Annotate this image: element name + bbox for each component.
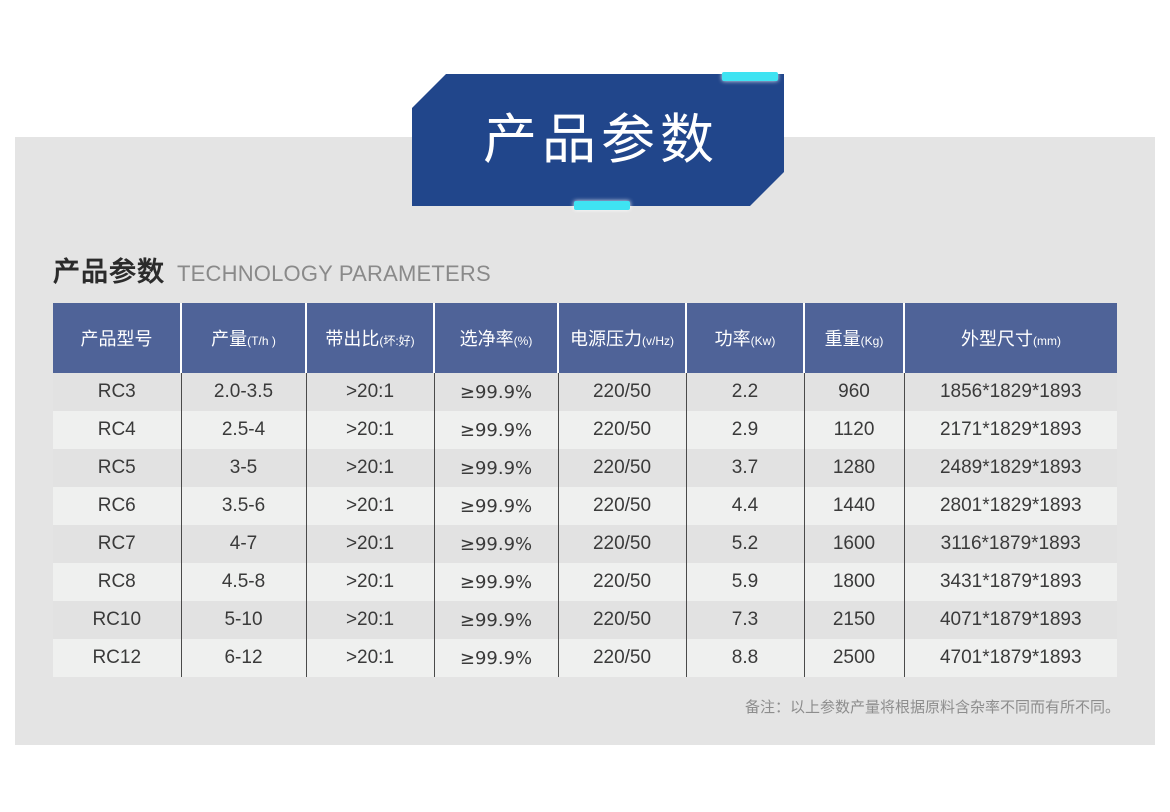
column-header-label: 重量 [825, 329, 861, 350]
table-row: RC84.5-8>20:1≥99.9%220/505.918003431*187… [53, 563, 1117, 601]
cell-capacity: 2.5-4 [181, 411, 306, 449]
cell-power: 7.3 [686, 601, 804, 639]
column-header-unit: (坏:好) [379, 334, 414, 348]
section-title-cn: 产品参数 [53, 250, 165, 289]
column-header-label: 选净率 [460, 329, 514, 350]
cell-capacity: 4.5-8 [181, 563, 306, 601]
table-body: RC32.0-3.5>20:1≥99.9%220/502.29601856*18… [53, 373, 1117, 677]
cell-dimensions: 2171*1829*1893 [904, 411, 1117, 449]
cell-model: RC4 [53, 411, 181, 449]
cell-capacity: 5-10 [181, 601, 306, 639]
cell-capacity: 4-7 [181, 525, 306, 563]
cell-carryover-ratio: >20:1 [306, 373, 434, 411]
cell-power: 5.9 [686, 563, 804, 601]
column-header-label: 外型尺寸 [961, 329, 1033, 350]
table-row: RC42.5-4>20:1≥99.9%220/502.911202171*182… [53, 411, 1117, 449]
cell-dimensions: 3116*1879*1893 [904, 525, 1117, 563]
cell-purity-rate: ≥99.9% [434, 449, 558, 487]
cell-weight: 1120 [804, 411, 904, 449]
cell-power: 8.8 [686, 639, 804, 677]
column-header-dimensions: 外型尺寸(mm) [904, 303, 1117, 373]
cell-dimensions: 3431*1879*1893 [904, 563, 1117, 601]
cell-power-supply: 220/50 [558, 411, 686, 449]
cell-capacity: 3-5 [181, 449, 306, 487]
cell-model: RC3 [53, 373, 181, 411]
cell-model: RC6 [53, 487, 181, 525]
cell-carryover-ratio: >20:1 [306, 601, 434, 639]
section-title-en: TECHNOLOGY PARAMETERS [177, 261, 491, 287]
cell-model: RC10 [53, 601, 181, 639]
cell-power: 2.9 [686, 411, 804, 449]
cell-purity-rate: ≥99.9% [434, 639, 558, 677]
column-header-label: 电源压力 [570, 329, 642, 350]
cell-capacity: 3.5-6 [181, 487, 306, 525]
table-header-row: 产品型号 产量(T/h ) 带出比(坏:好) 选净率(%) 电源压力(v/Hz)… [53, 303, 1117, 373]
column-header-label: 带出比 [325, 329, 379, 350]
specifications-table: 产品型号 产量(T/h ) 带出比(坏:好) 选净率(%) 电源压力(v/Hz)… [53, 303, 1117, 677]
cell-power-supply: 220/50 [558, 373, 686, 411]
table-row: RC105-10>20:1≥99.9%220/507.321504071*187… [53, 601, 1117, 639]
cell-power: 3.7 [686, 449, 804, 487]
column-header-unit: (Kw) [751, 334, 776, 348]
cell-power-supply: 220/50 [558, 563, 686, 601]
table-row: RC53-5>20:1≥99.9%220/503.712802489*1829*… [53, 449, 1117, 487]
banner-accent-top-bar [722, 72, 778, 81]
cell-carryover-ratio: >20:1 [306, 525, 434, 563]
cell-model: RC7 [53, 525, 181, 563]
cell-power: 5.2 [686, 525, 804, 563]
column-header-unit: (%) [514, 334, 533, 348]
column-header-power-supply: 电源压力(v/Hz) [558, 303, 686, 373]
section-heading: 产品参数 TECHNOLOGY PARAMETERS [53, 250, 491, 289]
cell-purity-rate: ≥99.9% [434, 601, 558, 639]
column-header-carryover-ratio: 带出比(坏:好) [306, 303, 434, 373]
cell-power-supply: 220/50 [558, 639, 686, 677]
table-footnote: 备注：以上参数产量将根据原料含杂率不同而有所不同。 [745, 696, 1120, 717]
cell-dimensions: 4701*1879*1893 [904, 639, 1117, 677]
column-header-weight: 重量(Kg) [804, 303, 904, 373]
cell-capacity: 2.0-3.5 [181, 373, 306, 411]
cell-weight: 1600 [804, 525, 904, 563]
cell-dimensions: 2801*1829*1893 [904, 487, 1117, 525]
table-row: RC63.5-6>20:1≥99.9%220/504.414402801*182… [53, 487, 1117, 525]
cell-carryover-ratio: >20:1 [306, 449, 434, 487]
table-row: RC32.0-3.5>20:1≥99.9%220/502.29601856*18… [53, 373, 1117, 411]
cell-weight: 960 [804, 373, 904, 411]
banner-title: 产品参数 [477, 113, 719, 167]
column-header-label: 产量 [211, 329, 247, 350]
cell-dimensions: 1856*1829*1893 [904, 373, 1117, 411]
banner-accent-bottom-bar [574, 201, 630, 210]
cell-dimensions: 2489*1829*1893 [904, 449, 1117, 487]
cell-weight: 1800 [804, 563, 904, 601]
column-header-purity-rate: 选净率(%) [434, 303, 558, 373]
cell-weight: 2500 [804, 639, 904, 677]
column-header-unit: (Kg) [861, 334, 884, 348]
cell-carryover-ratio: >20:1 [306, 487, 434, 525]
cell-purity-rate: ≥99.9% [434, 525, 558, 563]
cell-model: RC8 [53, 563, 181, 601]
cell-carryover-ratio: >20:1 [306, 563, 434, 601]
cell-power-supply: 220/50 [558, 601, 686, 639]
cell-dimensions: 4071*1879*1893 [904, 601, 1117, 639]
cell-weight: 1280 [804, 449, 904, 487]
cell-carryover-ratio: >20:1 [306, 639, 434, 677]
column-header-model: 产品型号 [53, 303, 181, 373]
table-row: RC74-7>20:1≥99.9%220/505.216003116*1879*… [53, 525, 1117, 563]
cell-model: RC12 [53, 639, 181, 677]
cell-weight: 1440 [804, 487, 904, 525]
cell-power: 4.4 [686, 487, 804, 525]
table-row: RC126-12>20:1≥99.9%220/508.825004701*187… [53, 639, 1117, 677]
column-header-unit: (v/Hz) [642, 334, 674, 348]
cell-carryover-ratio: >20:1 [306, 411, 434, 449]
cell-purity-rate: ≥99.9% [434, 373, 558, 411]
column-header-label: 功率 [715, 329, 751, 350]
page-banner: 产品参数 [412, 74, 784, 206]
column-header-capacity: 产量(T/h ) [181, 303, 306, 373]
cell-purity-rate: ≥99.9% [434, 563, 558, 601]
cell-model: RC5 [53, 449, 181, 487]
cell-power: 2.2 [686, 373, 804, 411]
column-header-label: 产品型号 [81, 329, 153, 350]
banner-shape: 产品参数 [412, 74, 784, 206]
column-header-unit: (T/h ) [247, 334, 276, 348]
cell-purity-rate: ≥99.9% [434, 411, 558, 449]
cell-power-supply: 220/50 [558, 487, 686, 525]
cell-power-supply: 220/50 [558, 525, 686, 563]
column-header-unit: (mm) [1033, 334, 1061, 348]
cell-capacity: 6-12 [181, 639, 306, 677]
cell-weight: 2150 [804, 601, 904, 639]
cell-purity-rate: ≥99.9% [434, 487, 558, 525]
cell-power-supply: 220/50 [558, 449, 686, 487]
column-header-power: 功率(Kw) [686, 303, 804, 373]
